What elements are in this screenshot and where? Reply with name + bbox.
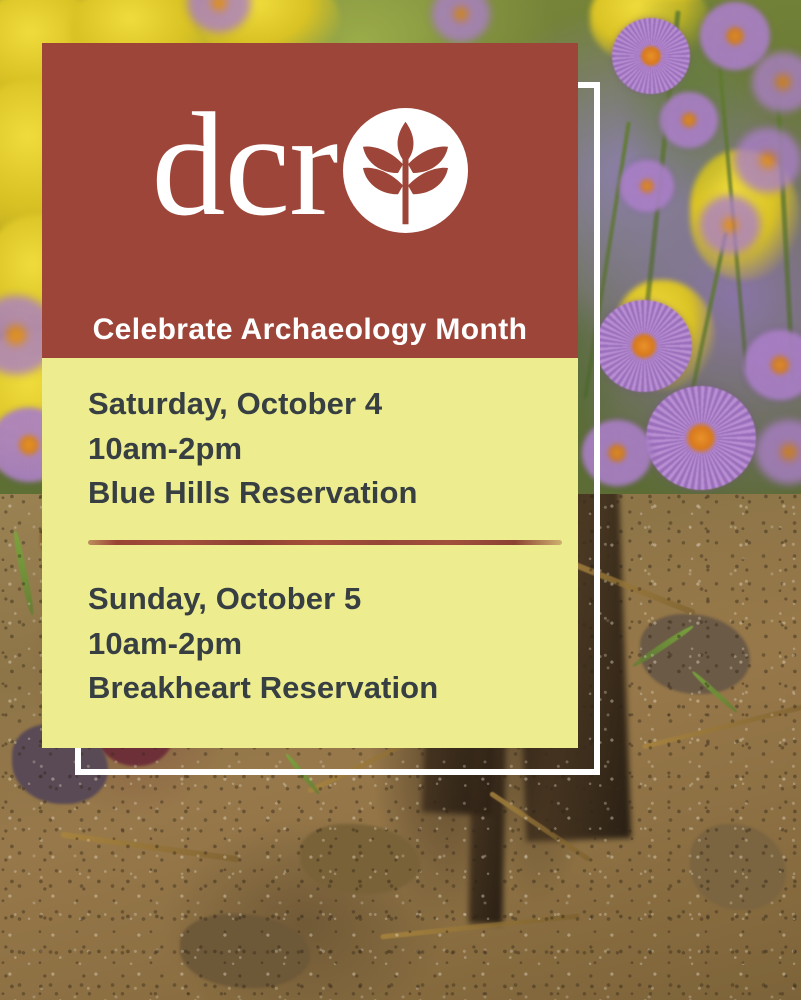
aster-flower <box>612 18 690 94</box>
dcr-leaf-emblem-icon <box>343 108 468 233</box>
aster-flower <box>620 160 674 212</box>
aster-flower <box>596 300 692 392</box>
dcr-logo: dcr <box>42 95 578 245</box>
event-block-saturday: Saturday, October 4 10am-2pm Blue Hills … <box>88 382 418 516</box>
aster-flower <box>700 2 770 70</box>
header-card: dcr Celebrate Archaeology Month <box>42 43 578 358</box>
aster-flower <box>735 128 801 192</box>
poster: dcr Celebrate Archaeology Month Saturday… <box>0 0 801 1000</box>
aster-flower <box>700 196 760 254</box>
event-details-card: Saturday, October 4 10am-2pm Blue Hills … <box>42 358 578 748</box>
section-divider <box>88 540 562 545</box>
header-tagline: Celebrate Archaeology Month <box>42 313 578 347</box>
aster-flower <box>646 386 756 490</box>
aster-flower <box>660 92 718 148</box>
event-block-sunday: Sunday, October 5 10am-2pm Breakheart Re… <box>88 577 438 711</box>
dcr-wordmark: dcr <box>152 102 338 229</box>
